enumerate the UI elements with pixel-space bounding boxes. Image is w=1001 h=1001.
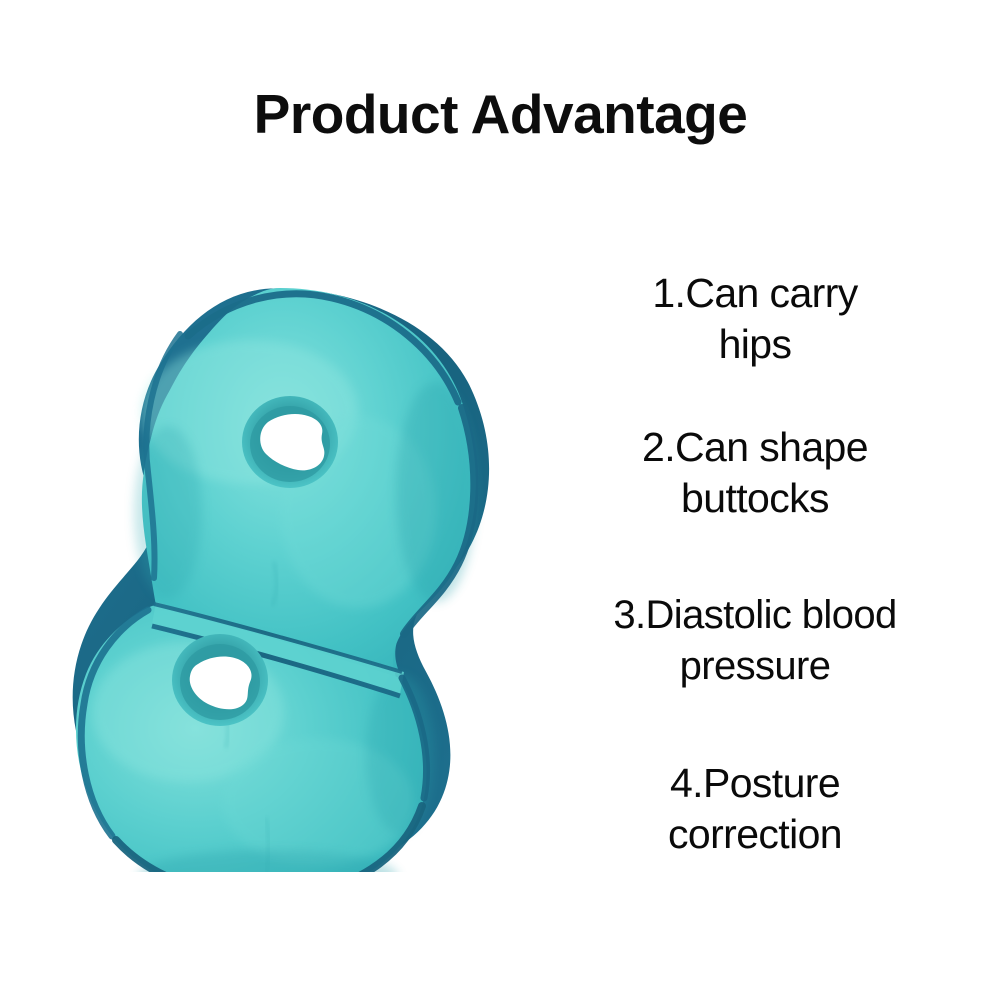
advantage-line-1a: 1.Can carry — [540, 268, 970, 319]
advantage-line-3b: pressure — [540, 641, 970, 692]
page-title: Product Advantage — [0, 84, 1001, 144]
advantage-line-4b: correction — [540, 809, 970, 860]
upper-ventilation-hole — [242, 396, 338, 488]
cushion-illustration — [28, 262, 528, 872]
lower-ventilation-hole — [172, 634, 268, 726]
advantage-line-3a: 3.Diastolic blood — [540, 590, 970, 641]
advantage-can-shape-buttocks: 2.Can shape buttocks — [540, 422, 970, 524]
advantage-line-2a: 2.Can shape — [540, 422, 970, 473]
product-advantage-page: Product Advantage — [0, 0, 1001, 1001]
product-photo — [28, 262, 528, 872]
advantage-can-carry-hips: 1.Can carry hips — [540, 268, 970, 370]
advantage-line-2b: buttocks — [540, 473, 970, 524]
advantage-line-1b: hips — [540, 319, 970, 370]
advantage-posture-correction: 4.Posture correction — [540, 758, 970, 860]
advantage-list: 1.Can carry hips 2.Can shape buttocks 3.… — [540, 268, 970, 860]
advantage-diastolic-blood-pressure: 3.Diastolic blood pressure — [540, 590, 970, 692]
advantage-line-4a: 4.Posture — [540, 758, 970, 809]
